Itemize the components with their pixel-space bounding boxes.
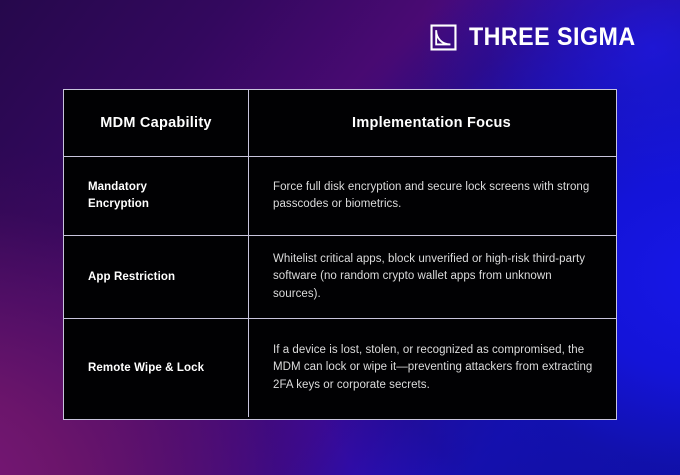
slide-canvas: THREE SIGMA MDM Capability Implementatio… [0,0,680,475]
table-row: MandatoryEncryption Force full disk encr… [64,156,616,235]
capability-label: Remote Wipe & Lock [88,360,204,377]
mdm-capability-table: MDM Capability Implementation Focus Mand… [63,89,617,420]
brand-logo: THREE SIGMA [430,24,648,51]
focus-description: Force full disk encryption and secure lo… [273,179,600,214]
cell-focus: Whitelist critical apps, block unverifie… [249,236,616,318]
cell-capability: App Restriction [64,236,249,318]
three-sigma-square-logo-icon [430,24,457,51]
column-header-capability: MDM Capability [100,115,211,131]
cell-focus: Force full disk encryption and secure lo… [249,157,616,235]
header-cell-focus: Implementation Focus [249,90,616,156]
table-row: App Restriction Whitelist critical apps,… [64,235,616,318]
cell-capability: MandatoryEncryption [64,157,249,235]
capability-label: App Restriction [88,269,175,286]
cell-focus: If a device is lost, stolen, or recogniz… [249,319,616,417]
focus-description: If a device is lost, stolen, or recogniz… [273,342,600,394]
cell-capability: Remote Wipe & Lock [64,319,249,417]
header-cell-capability: MDM Capability [64,90,249,156]
table-row: Remote Wipe & Lock If a device is lost, … [64,318,616,417]
focus-description: Whitelist critical apps, block unverifie… [273,251,600,303]
table-header-row: MDM Capability Implementation Focus [64,90,616,156]
brand-wordmark: THREE SIGMA [469,25,636,50]
column-header-focus: Implementation Focus [352,115,511,131]
capability-label: MandatoryEncryption [88,179,149,212]
